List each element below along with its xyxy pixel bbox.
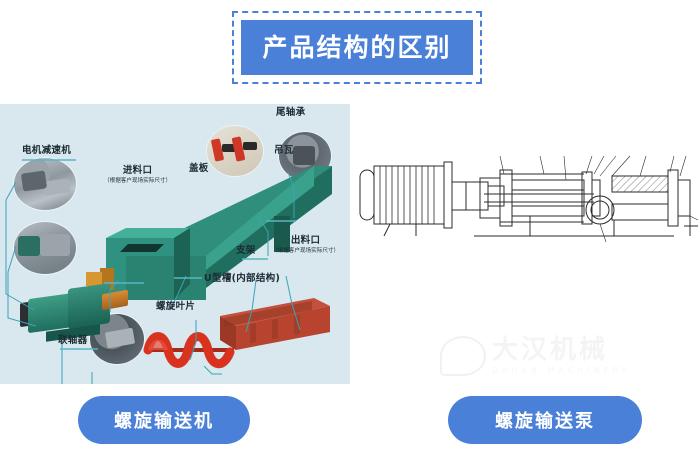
pump-section-drawing (354, 150, 700, 256)
label-u-trough: U型槽(内部结构) (204, 274, 280, 285)
button-screw-pump[interactable]: 螺旋输送泵 (448, 396, 642, 444)
label-discharge-outlet: 出料口 （根据客户现场实际尺寸） (272, 236, 339, 254)
label-hanger-bearing: 吊瓦 (274, 146, 294, 157)
title-dashed-frame: 产品结构的区别 (232, 11, 482, 84)
label-support-bracket: 支架 (236, 246, 256, 257)
label-coupling: 联轴器 (58, 336, 87, 347)
button-screw-conveyor-label: 螺旋输送机 (114, 407, 214, 433)
label-tail-bearing: 尾轴承 (276, 108, 305, 119)
label-screw-blade: 螺旋叶片 (156, 302, 195, 313)
watermark-logo-icon (440, 336, 486, 376)
label-cover-plate: 盖板 (189, 164, 209, 175)
title-banner: 产品结构的区别 (241, 20, 473, 75)
watermark-cn-text: 大汉机械 (492, 337, 631, 363)
label-motor-reducer: 电机减速机 (22, 146, 71, 157)
watermark-en-text: DAHAN MACHINERY (492, 366, 631, 375)
watermark: 大汉机械 DAHAN MACHINERY (440, 330, 695, 382)
screw-conveyor-diagram-panel: 电机减速机 联轴器 进料口 （根据客户现场实际尺寸） 盖板 尾轴承 吊瓦 支架 … (0, 104, 350, 384)
page-root: 产品结构的区别 (0, 0, 700, 451)
button-screw-pump-label: 螺旋输送泵 (495, 407, 595, 433)
button-screw-conveyor[interactable]: 螺旋输送机 (78, 396, 250, 444)
label-feed-inlet: 进料口 （根据客户现场实际尺寸） (104, 166, 171, 184)
page-title: 产品结构的区别 (262, 35, 451, 60)
